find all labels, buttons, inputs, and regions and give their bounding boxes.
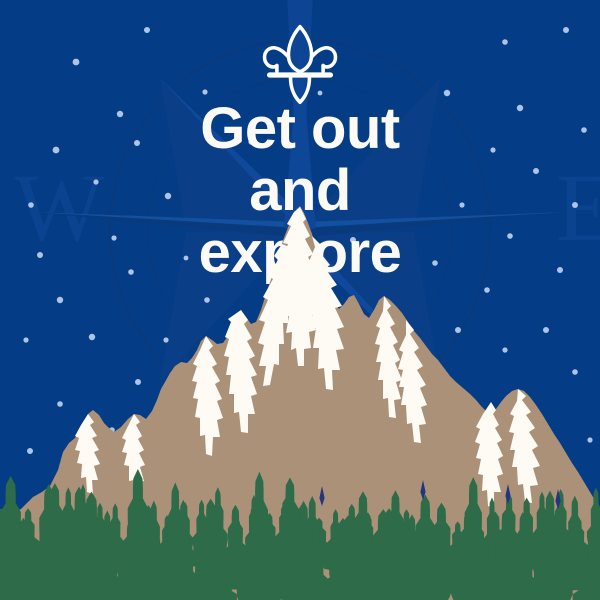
poster-canvas: W E — [0, 0, 600, 600]
landscape-layer — [0, 0, 600, 600]
